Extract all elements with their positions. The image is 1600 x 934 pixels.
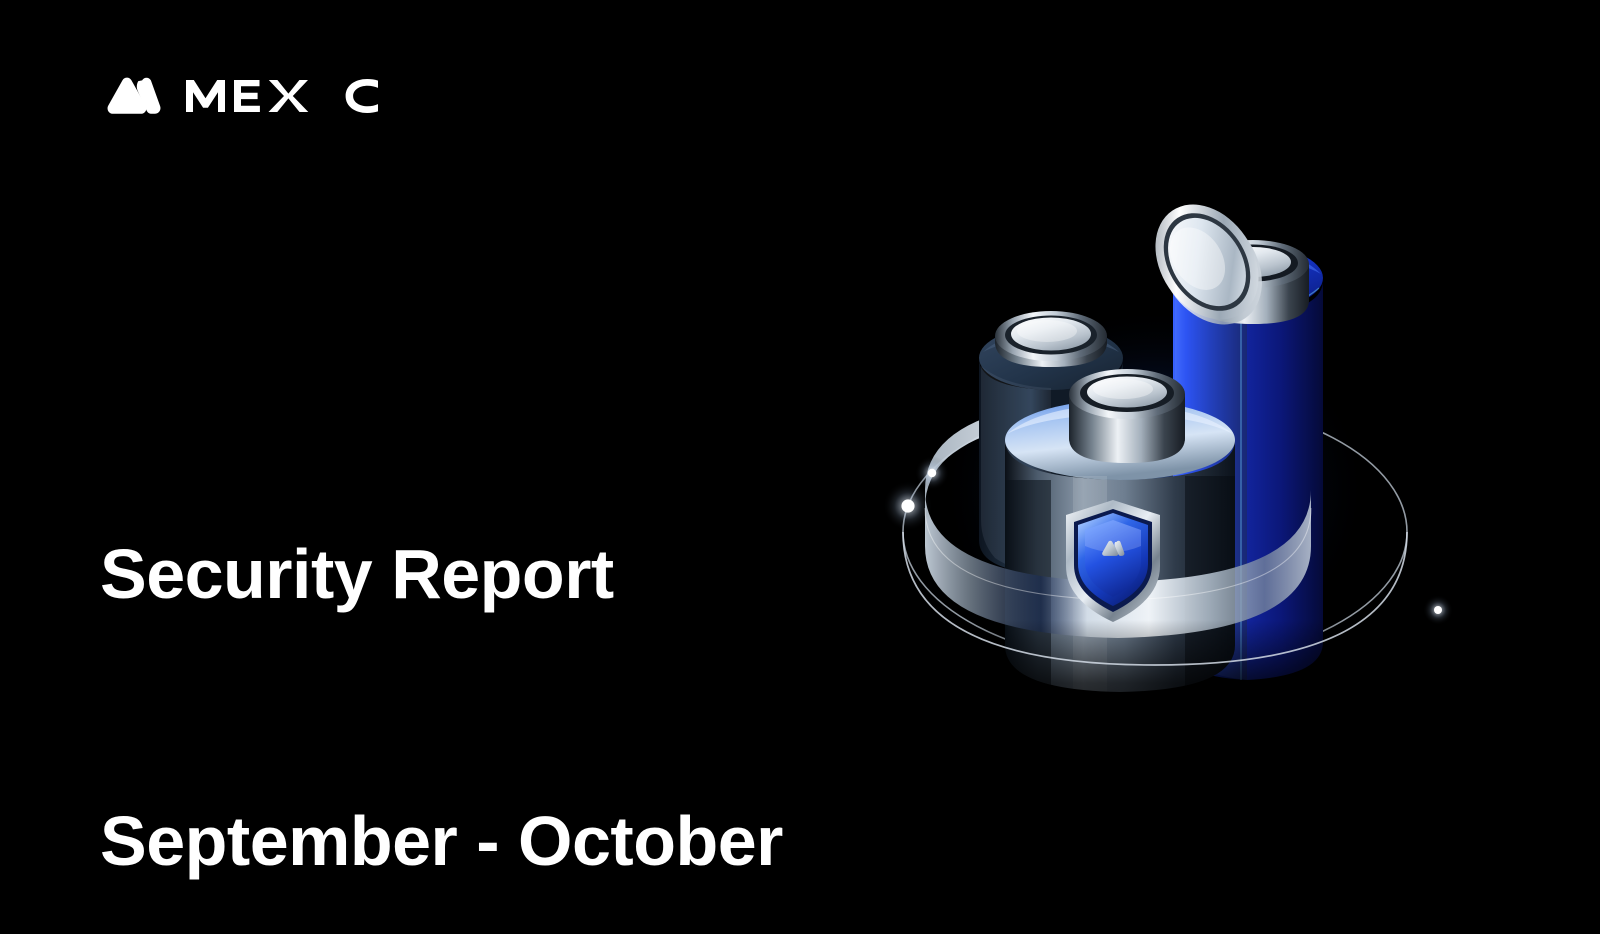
mexc-logo-lockup[interactable] xyxy=(100,70,380,122)
headline-line-1: Security Report xyxy=(100,530,890,619)
security-report-banner: Security Report September - October High… xyxy=(0,0,1600,934)
mexc-wordmark xyxy=(184,79,380,113)
page-title: Security Report September - October High… xyxy=(100,352,890,934)
mexc-triangle-mark-icon xyxy=(100,76,162,116)
coin-stack-front xyxy=(1069,369,1185,463)
coin-stack-left xyxy=(995,311,1107,367)
bottom-fade xyxy=(895,620,1455,760)
security-vault-3d-illustration xyxy=(855,190,1495,730)
headline-line-2: September - October xyxy=(100,797,890,886)
orbit-dot-right xyxy=(1423,595,1453,625)
orbit-dot-large xyxy=(883,481,933,531)
